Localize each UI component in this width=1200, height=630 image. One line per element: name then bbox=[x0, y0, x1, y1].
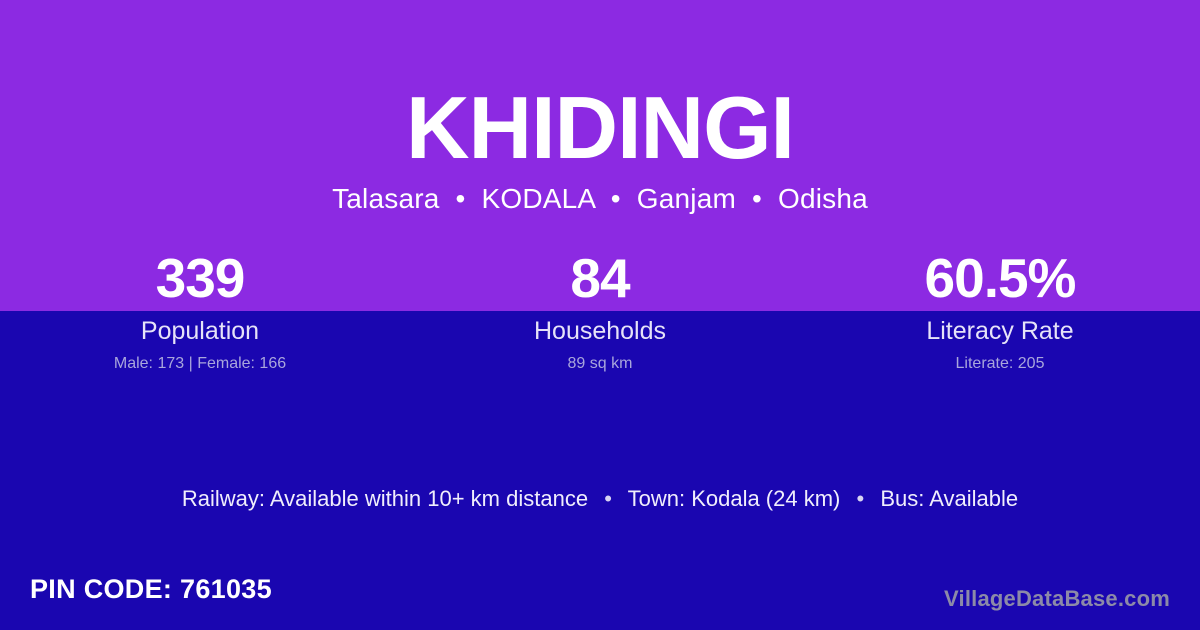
breadcrumb-separator-2: • bbox=[603, 183, 629, 214]
facility-railway: Railway: Available within 10+ km distanc… bbox=[182, 486, 588, 511]
stat-value-population: 339 bbox=[0, 245, 400, 311]
facilities-line: Railway: Available within 10+ km distanc… bbox=[0, 483, 1200, 515]
breadcrumb-state: Odisha bbox=[778, 183, 868, 214]
stat-households: 84 Households 89 sq km bbox=[400, 245, 800, 375]
stat-label-population: Population bbox=[0, 314, 400, 348]
breadcrumb-block: KODALA bbox=[482, 183, 595, 214]
page-title: KHIDINGI bbox=[0, 84, 1200, 172]
breadcrumb-village: Talasara bbox=[332, 183, 439, 214]
stat-label-households: Households bbox=[400, 314, 800, 348]
stat-value-households: 84 bbox=[400, 245, 800, 311]
facility-town: Town: Kodala (24 km) bbox=[628, 486, 841, 511]
stat-literacy: 60.5% Literacy Rate Literate: 205 bbox=[800, 245, 1200, 375]
stat-value-literacy: 60.5% bbox=[800, 245, 1200, 311]
stat-label-literacy: Literacy Rate bbox=[800, 314, 1200, 348]
breadcrumb-separator-1: • bbox=[448, 183, 474, 214]
stat-sub-households: 89 sq km bbox=[400, 353, 800, 375]
facility-bus: Bus: Available bbox=[880, 486, 1018, 511]
pin-code: PIN CODE: 761035 bbox=[30, 574, 272, 605]
stat-sub-literacy: Literate: 205 bbox=[800, 353, 1200, 375]
stat-population: 339 Population Male: 173 | Female: 166 bbox=[0, 245, 400, 375]
facility-separator-1: • bbox=[594, 486, 622, 511]
breadcrumb-district: Ganjam bbox=[637, 183, 736, 214]
site-brand: VillageDataBase.com bbox=[944, 586, 1170, 612]
facility-separator-2: • bbox=[847, 486, 875, 511]
stat-sub-population: Male: 173 | Female: 166 bbox=[0, 353, 400, 375]
breadcrumb: Talasara • KODALA • Ganjam • Odisha bbox=[0, 183, 1200, 215]
breadcrumb-separator-3: • bbox=[744, 183, 770, 214]
village-info-card: KHIDINGI Talasara • KODALA • Ganjam • Od… bbox=[0, 0, 1200, 630]
stats-row: 339 Population Male: 173 | Female: 166 8… bbox=[0, 245, 1200, 375]
